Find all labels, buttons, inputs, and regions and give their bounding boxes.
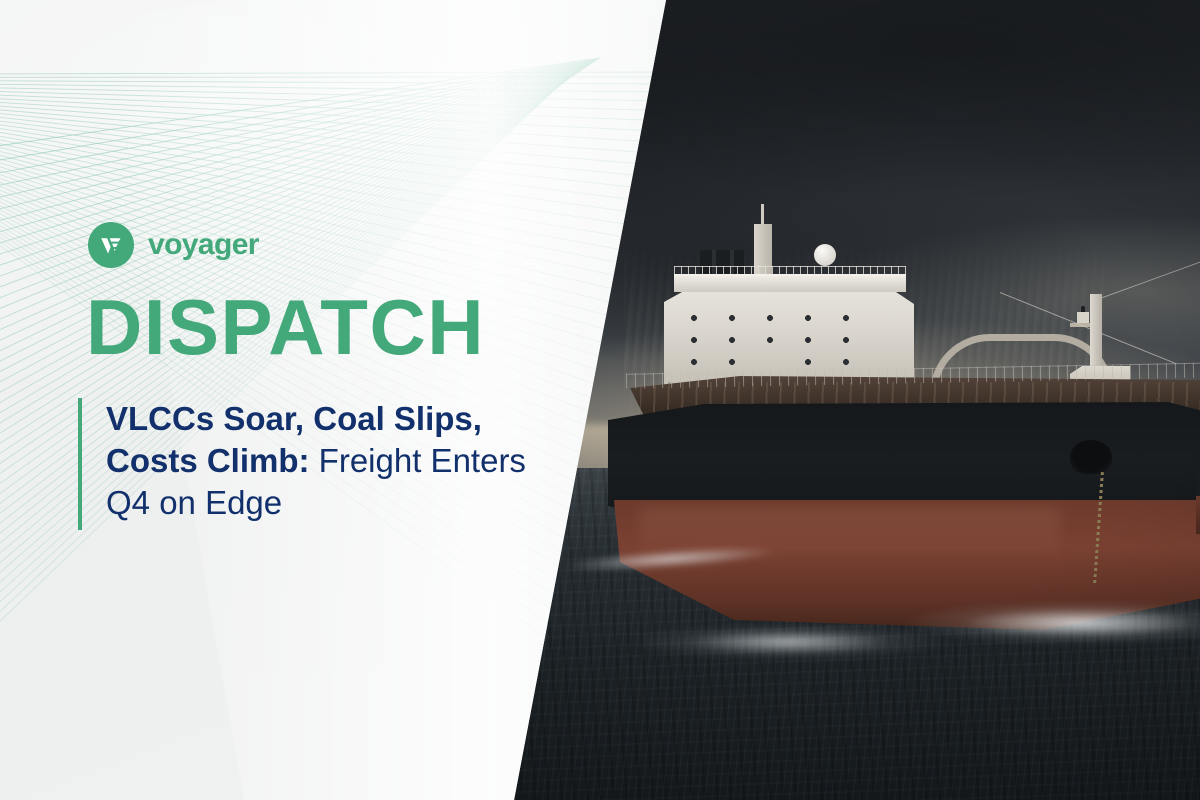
headline-text: VLCCs Soar, Coal Slips, Costs Climb: Fre… (106, 398, 526, 530)
voyager-v-mark-icon (88, 222, 134, 268)
accent-bar (78, 398, 82, 530)
bow-anchor (1070, 440, 1112, 474)
brand-lockup[interactable]: voyager (88, 222, 259, 268)
masthead-title: DISPATCH (86, 288, 485, 366)
rigging-line (1100, 242, 1200, 299)
bridge-deck (674, 274, 906, 292)
newsletter-hero-banner: voyager DISPATCH VLCCs Soar, Coal Slips,… (0, 0, 1200, 800)
headline-block: VLCCs Soar, Coal Slips, Costs Climb: Fre… (78, 398, 526, 530)
superstructure-portholes (684, 312, 894, 374)
oil-tanker-ship (600, 250, 1200, 670)
bulbous-bow (1196, 464, 1200, 534)
brand-name: voyager (148, 230, 259, 260)
radar-dome (814, 244, 836, 266)
bow-wave-foam (640, 624, 970, 660)
